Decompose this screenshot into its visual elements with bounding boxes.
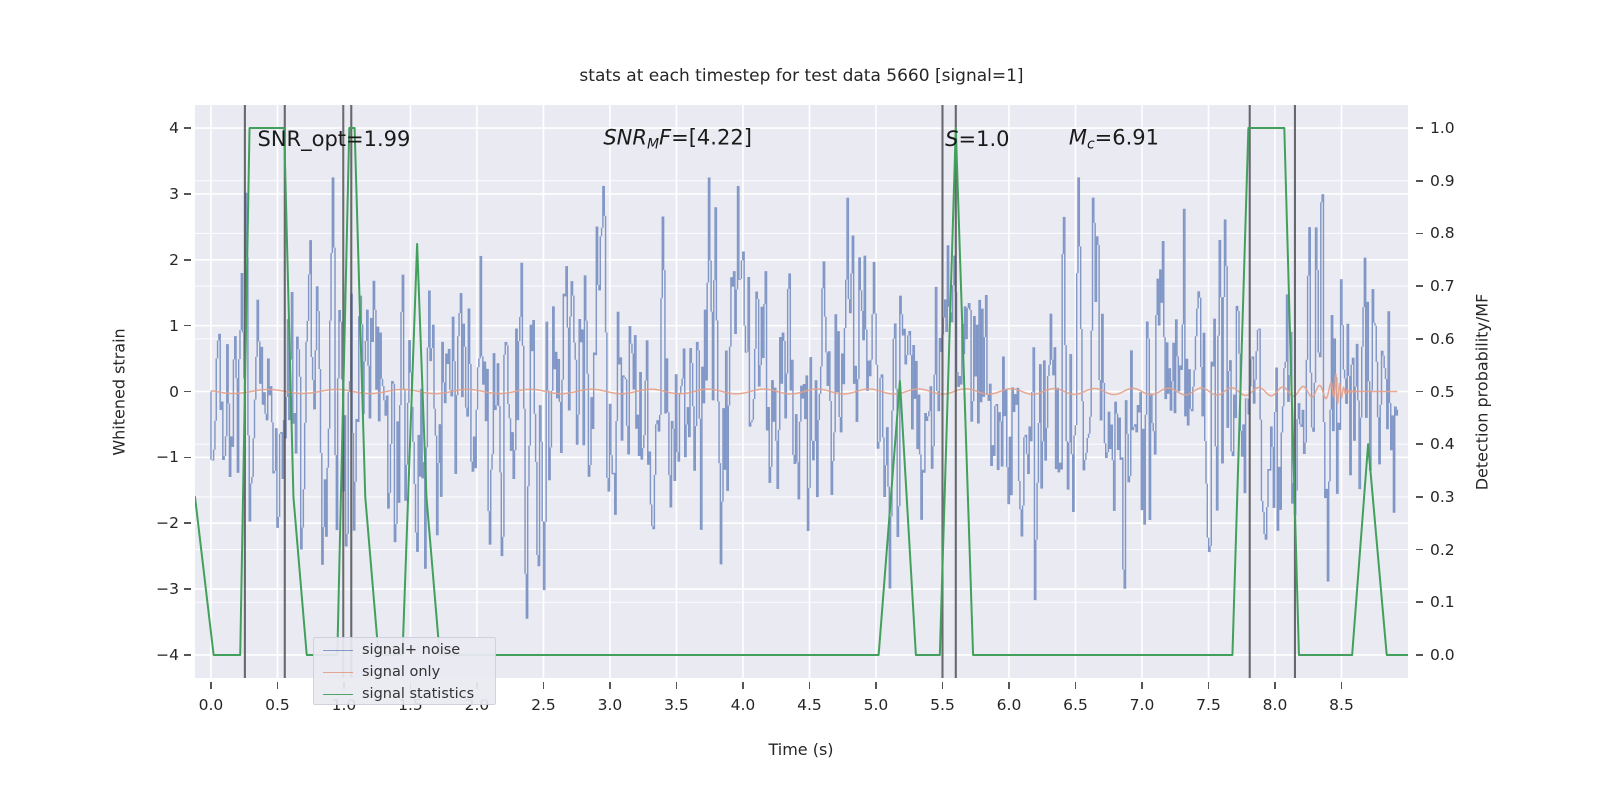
chart-title: stats at each timestep for test data 566… (195, 66, 1408, 86)
y-axis-right-tick-label: 0.4 (1430, 435, 1455, 453)
y-axis-right-tickmark (1416, 233, 1423, 235)
x-axis-tick-label: 2.5 (531, 696, 556, 714)
legend-item[interactable]: signal statistics (314, 683, 495, 705)
x-axis-tick-label: 6.0 (997, 696, 1022, 714)
x-axis-tickmark (942, 682, 944, 689)
x-axis-tickmark (543, 682, 545, 689)
x-axis-tick-label: 6.5 (1063, 696, 1088, 714)
y-axis-right-tickmark (1416, 443, 1423, 445)
y-axis-left-tick-label: 0 (133, 383, 179, 401)
legend-color-swatch (323, 672, 353, 673)
legend-label: signal+ noise (362, 642, 460, 658)
x-axis-tick-label: 7.5 (1196, 696, 1221, 714)
y-axis-left-tickmark (184, 588, 191, 590)
x-axis-tick-label: 8.0 (1263, 696, 1288, 714)
y-axis-right-tick-label: 0.1 (1430, 593, 1455, 611)
x-axis-tick-label: 3.5 (664, 696, 689, 714)
x-axis-tickmark (676, 682, 678, 689)
x-axis-tickmark (742, 682, 744, 689)
y-axis-right-label: Detection probability/MF (1473, 294, 1492, 491)
y-axis-left-tickmark (184, 193, 191, 195)
y-axis-right-tickmark (1416, 654, 1423, 656)
legend-label: signal statistics (362, 686, 474, 702)
y-axis-right-tickmark (1416, 601, 1423, 603)
y-axis-right-tickmark (1416, 549, 1423, 551)
x-axis-tickmark (277, 682, 279, 689)
detection-marker-lines (245, 105, 1295, 678)
legend-item[interactable]: signal+ noise (314, 639, 495, 661)
y-axis-left-tick-label: 1 (133, 317, 179, 335)
annotation-chirp-mass: Mc=6.91 (1069, 126, 1159, 153)
y-axis-right-tickmark (1416, 391, 1423, 393)
legend-color-swatch (323, 694, 353, 695)
y-axis-right-tick-label: 1.0 (1430, 119, 1455, 137)
x-axis-tickmark (1141, 682, 1143, 689)
x-axis-tickmark (875, 682, 877, 689)
y-axis-right-tick-label: 0.5 (1430, 383, 1455, 401)
y-axis-right-tickmark (1416, 180, 1423, 182)
y-axis-right-tickmark (1416, 127, 1423, 129)
y-axis-right-tick-label: 0.0 (1430, 646, 1455, 664)
y-axis-right-tick-label: 0.8 (1430, 224, 1455, 242)
y-axis-right-tick-label: 0.7 (1430, 277, 1455, 295)
y-axis-right-tickmark (1416, 338, 1423, 340)
legend-box: signal+ noisesignal onlysignal statistic… (313, 637, 496, 705)
x-axis-tickmark (609, 682, 611, 689)
x-axis-tickmark (1274, 682, 1276, 689)
signal-plus-noise-trace (211, 177, 1397, 618)
y-axis-right-tickmark (1416, 496, 1423, 498)
y-axis-left-tick-label: −2 (133, 514, 179, 532)
x-axis-tick-label: 0.5 (265, 696, 290, 714)
y-axis-left-tickmark (184, 127, 191, 129)
data-layer (195, 105, 1408, 678)
figure-canvas: stats at each timestep for test data 566… (0, 0, 1600, 800)
y-axis-left-tickmark (184, 457, 191, 459)
x-axis-tick-label: 5.5 (930, 696, 955, 714)
y-axis-left-tick-label: −3 (133, 580, 179, 598)
legend-item[interactable]: signal only (314, 661, 495, 683)
x-axis-tickmark (1075, 682, 1077, 689)
annotation-detection-stat: S=1.0 (945, 127, 1009, 151)
annotation-snr-mf: SNRMF=[4.22] (603, 126, 752, 153)
y-axis-left-label: Whitened strain (110, 328, 129, 455)
x-axis-tickmark (1208, 682, 1210, 689)
x-axis-tickmark (809, 682, 811, 689)
x-axis-tick-label: 0.0 (199, 696, 224, 714)
y-axis-left-tickmark (184, 391, 191, 393)
annotation-snr-opt: SNR_opt=1.99 (258, 127, 411, 151)
x-axis-tickmark (1008, 682, 1010, 689)
y-axis-right-tick-label: 0.2 (1430, 541, 1455, 559)
y-axis-left-tickmark (184, 522, 191, 524)
legend-label: signal only (362, 664, 440, 680)
y-axis-right-tickmark (1416, 285, 1423, 287)
y-axis-left-tickmark (184, 259, 191, 261)
x-axis-tick-label: 4.0 (731, 696, 756, 714)
x-axis-tick-label: 8.5 (1329, 696, 1354, 714)
y-axis-left-tick-label: 3 (133, 185, 179, 203)
x-axis-tickmark (210, 682, 212, 689)
x-axis-tick-label: 4.5 (797, 696, 822, 714)
y-axis-left-tick-label: 4 (133, 119, 179, 137)
y-axis-left-tick-label: −1 (133, 448, 179, 466)
y-axis-right-tick-label: 0.3 (1430, 488, 1455, 506)
plot-axes (195, 105, 1408, 678)
y-axis-left-tick-label: −4 (133, 646, 179, 664)
x-axis-tick-label: 3.0 (598, 696, 623, 714)
x-axis-label: Time (s) (768, 740, 833, 759)
y-axis-right-tick-label: 0.6 (1430, 330, 1455, 348)
y-axis-left-tickmark (184, 325, 191, 327)
legend-color-swatch (323, 650, 353, 651)
x-axis-tickmark (1341, 682, 1343, 689)
y-axis-left-tick-label: 2 (133, 251, 179, 269)
x-axis-tick-label: 7.0 (1130, 696, 1155, 714)
y-axis-right-tick-label: 0.9 (1430, 172, 1455, 190)
x-axis-tick-label: 5.0 (864, 696, 889, 714)
data-svg (195, 105, 1408, 678)
y-axis-left-tickmark (184, 654, 191, 656)
